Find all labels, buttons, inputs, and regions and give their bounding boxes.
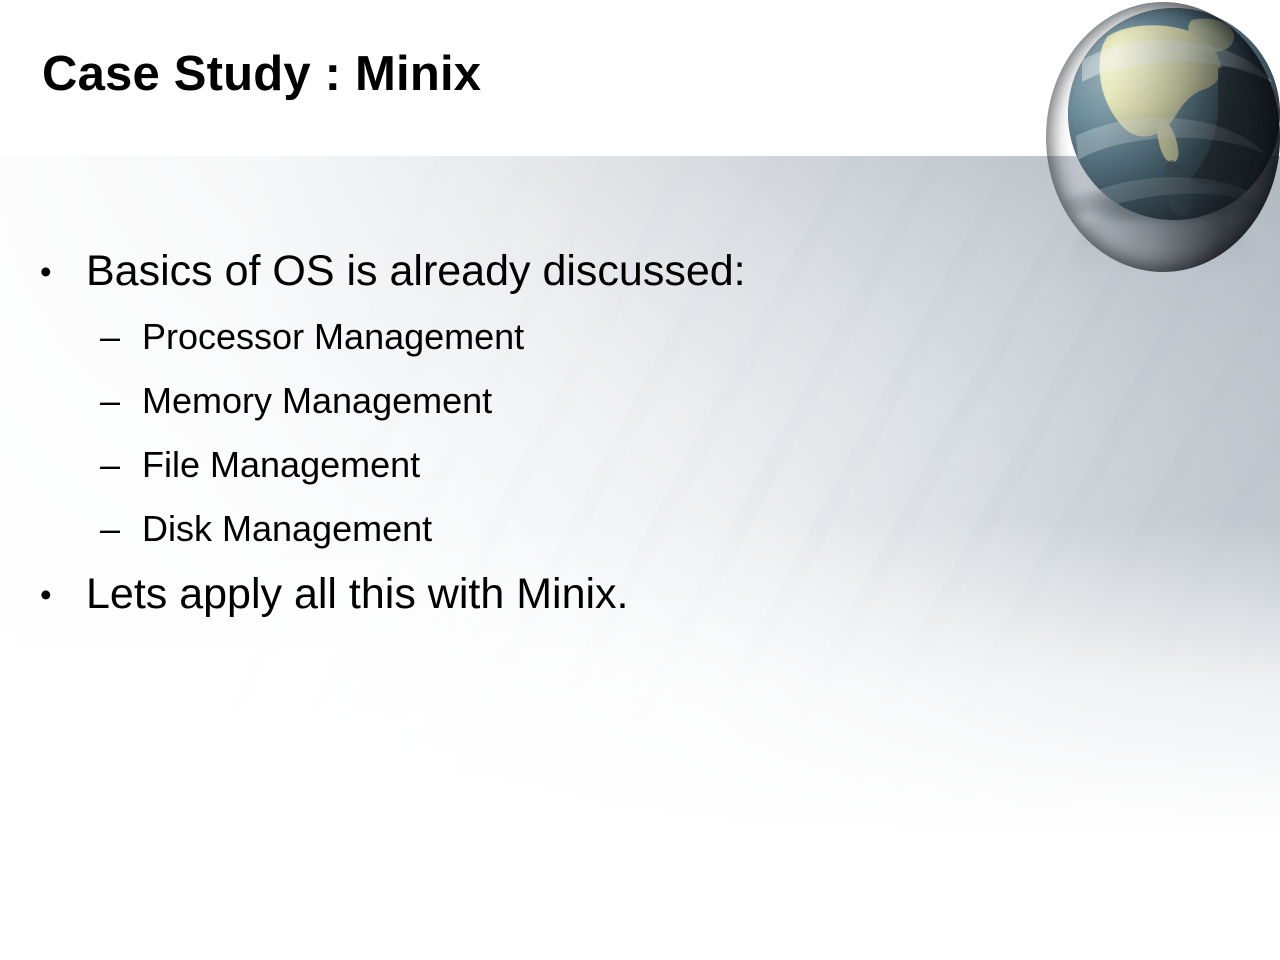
bullet-item-level2: – Memory Management	[0, 369, 1200, 433]
bullet-item-level2: – File Management	[0, 433, 1200, 497]
bullet-item-level1: • Lets apply all this with Minix.	[0, 561, 1200, 628]
bullet-marker-dash-icon: –	[100, 497, 142, 561]
bullet-marker-dot-icon: •	[40, 561, 86, 628]
bullet-marker-dash-icon: –	[100, 369, 142, 433]
bullet-item-level2: – Processor Management	[0, 305, 1200, 369]
bullet-item-level1: • Basics of OS is already discussed:	[0, 238, 1200, 305]
bullet-item-level2: – Disk Management	[0, 497, 1200, 561]
slide-body-content: • Basics of OS is already discussed: – P…	[0, 238, 1200, 628]
globe-rim-shading	[1046, 2, 1280, 272]
bullet-text: Basics of OS is already discussed:	[86, 238, 746, 305]
bullet-marker-dash-icon: –	[100, 433, 142, 497]
bullet-marker-dot-icon: •	[40, 238, 86, 305]
bullet-marker-dash-icon: –	[100, 305, 142, 369]
slide-canvas: Case Study : Minix • Basics of OS is alr…	[0, 0, 1280, 960]
bullet-text: Processor Management	[142, 305, 524, 369]
bullet-text: File Management	[142, 433, 420, 497]
bullet-text: Disk Management	[142, 497, 432, 561]
bullet-text: Lets apply all this with Minix.	[86, 561, 629, 628]
earth-globe-graphic	[1046, 2, 1280, 272]
slide-title: Case Study : Minix	[42, 47, 481, 102]
bullet-text: Memory Management	[142, 369, 492, 433]
